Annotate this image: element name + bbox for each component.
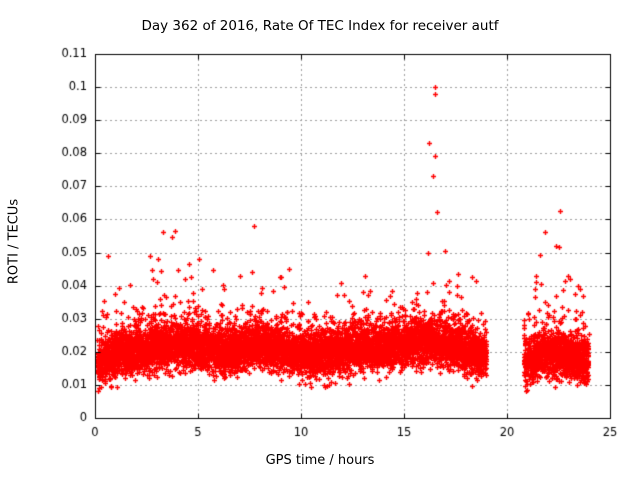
scatter-plot-canvas	[0, 0, 640, 480]
chart-title: Day 362 of 2016, Rate Of TEC Index for r…	[0, 18, 640, 34]
chart-container: Day 362 of 2016, Rate Of TEC Index for r…	[0, 0, 640, 480]
x-axis-label: GPS time / hours	[0, 453, 640, 468]
y-axis-label: ROTI / TECUs	[7, 162, 22, 322]
